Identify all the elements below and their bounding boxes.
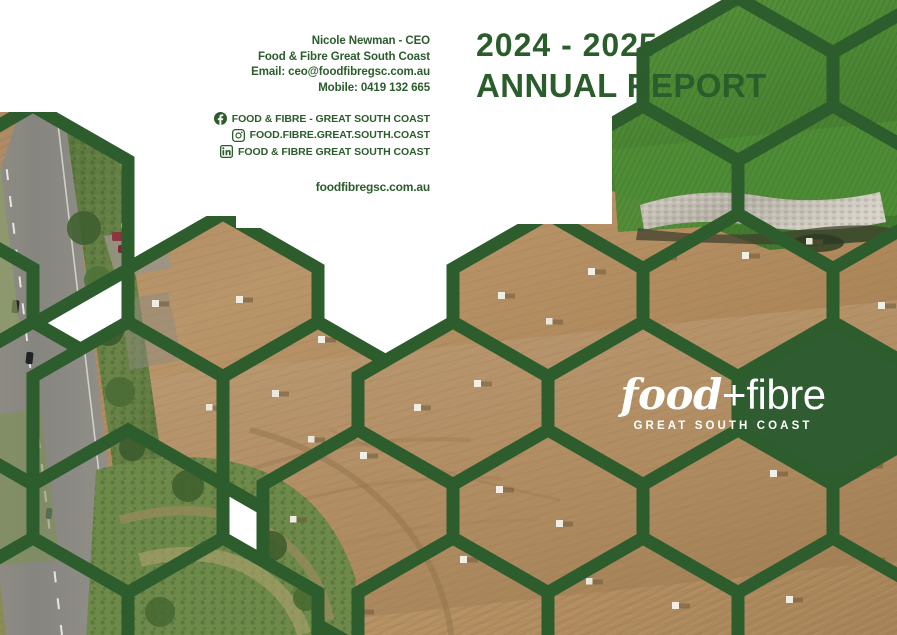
contact-block: Nicole Newman - CEO Food & Fibre Great S…: [180, 34, 430, 194]
facebook-icon: [214, 112, 227, 125]
social-label-linkedin: FOOD & FIBRE GREAT SOUTH COAST: [238, 146, 430, 158]
social-link-facebook[interactable]: FOOD & FIBRE - GREAT SOUTH COAST: [214, 112, 430, 125]
social-link-linkedin[interactable]: FOOD & FIBRE GREAT SOUTH COAST: [220, 145, 430, 158]
contact-email[interactable]: Email: ceo@foodfibregsc.com.au: [180, 65, 430, 81]
social-label-instagram: FOOD.FIBRE.GREAT.SOUTH.COAST: [250, 129, 430, 141]
contact-name: Nicole Newman - CEO: [180, 34, 430, 50]
contact-organisation: Food & Fibre Great South Coast: [180, 50, 430, 66]
instagram-icon: [232, 129, 245, 142]
annual-report-cover: Nicole Newman - CEO Food & Fibre Great S…: [0, 0, 897, 635]
page-title: 2024 - 2025 ANNUAL REPORT: [476, 26, 767, 106]
social-links: FOOD & FIBRE - GREAT SOUTH COAST FOOD.FI…: [180, 112, 430, 158]
title-year: 2024 - 2025: [476, 26, 767, 64]
website-link[interactable]: foodfibregsc.com.au: [180, 180, 430, 194]
contact-mobile[interactable]: Mobile: 0419 132 665: [180, 81, 430, 97]
title-main: ANNUAL REPORT: [476, 66, 767, 106]
social-label-facebook: FOOD & FIBRE - GREAT SOUTH COAST: [232, 113, 430, 125]
linkedin-icon: [220, 145, 233, 158]
social-link-instagram[interactable]: FOOD.FIBRE.GREAT.SOUTH.COAST: [232, 129, 430, 142]
